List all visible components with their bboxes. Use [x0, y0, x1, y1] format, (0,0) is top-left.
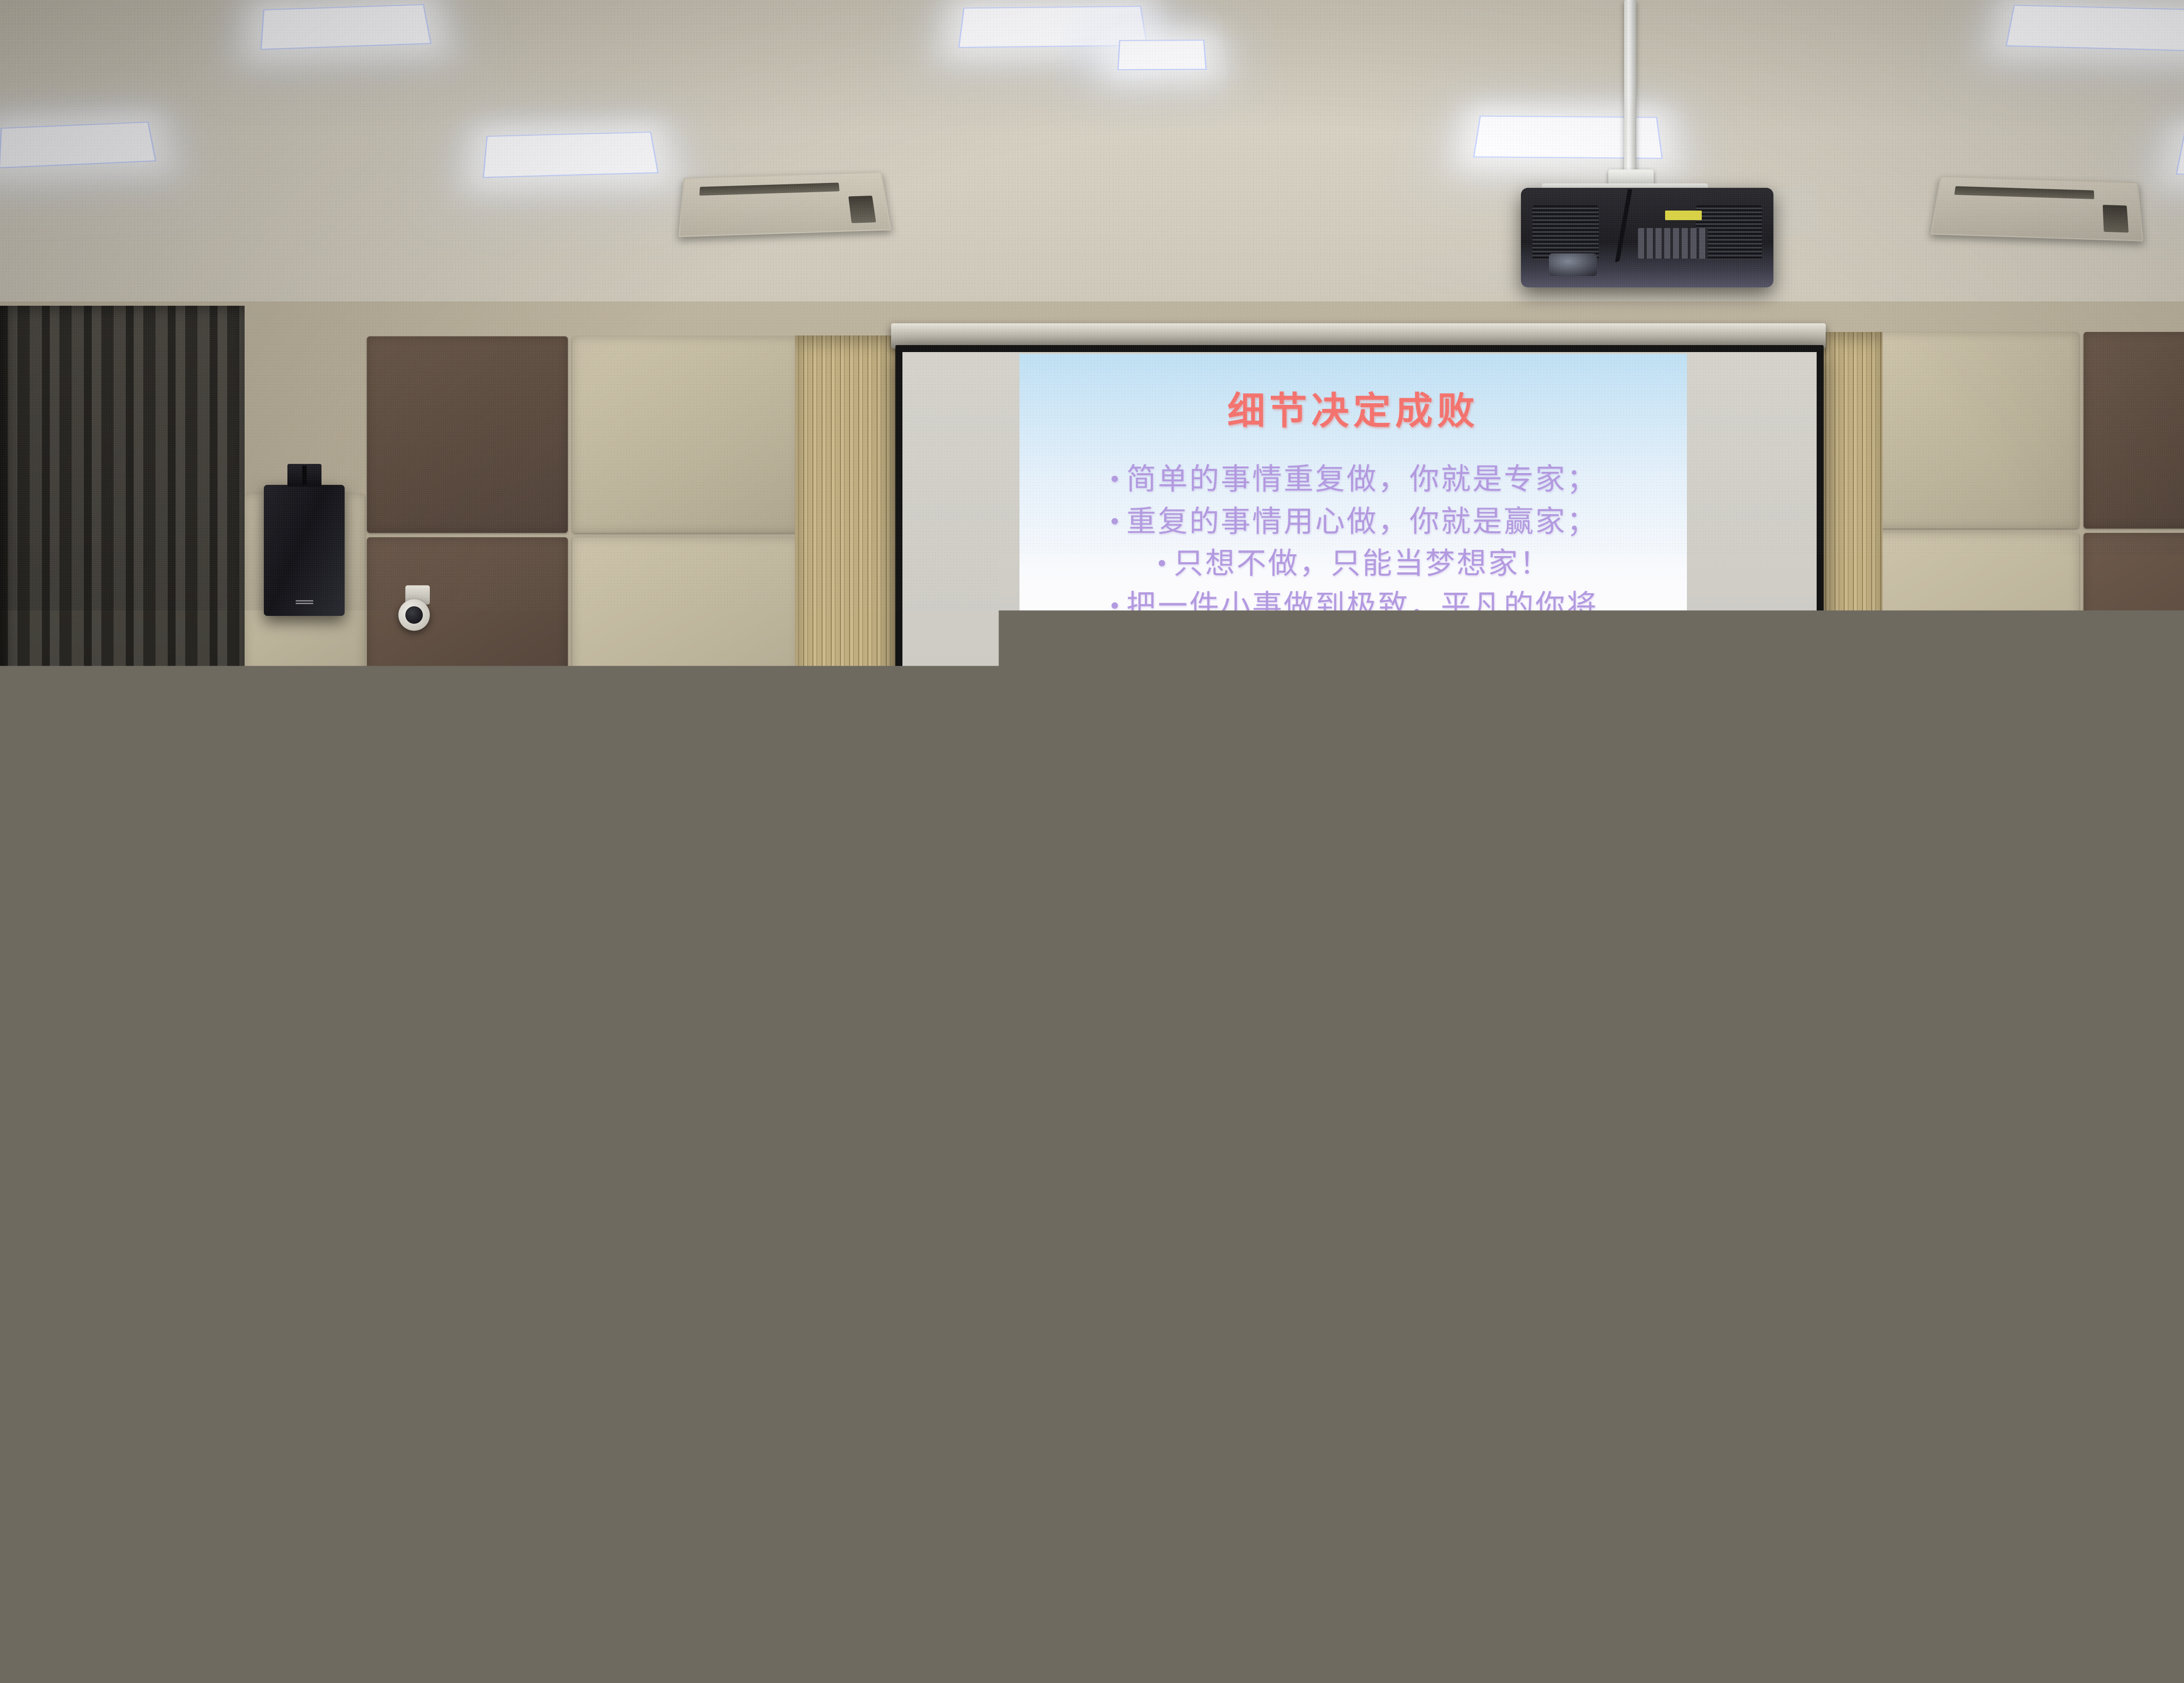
student-head: [603, 957, 649, 1011]
chair-trim: [2056, 1302, 2164, 1310]
chair-fabric-cover: [1782, 1280, 1948, 1389]
chair-bolt: [1779, 1173, 1784, 1178]
slide-bullet-text: 重复的事情用心做，你就是赢家；: [1127, 505, 1598, 539]
student-head: [1572, 1048, 1623, 1109]
projector-vent: [1532, 205, 1599, 259]
student-torso: [2146, 1070, 2184, 1180]
water-bottle-desk[interactable]: [442, 1491, 534, 1527]
student-chair[interactable]: [1127, 1301, 1256, 1365]
chair-trim: [1061, 1059, 1172, 1067]
slide-bullet-item: •重复的事情用心做，你就是赢家；: [1019, 501, 1687, 543]
student-head: [26, 1149, 74, 1206]
bottle-cap: [7, 1367, 25, 1382]
acoustic-wall-panel: [572, 336, 799, 533]
tree-canopy: [1296, 805, 1330, 822]
bottle-label: [2025, 1093, 2043, 1118]
desk-booklet[interactable]: [1354, 1439, 1436, 1471]
chair-trim: [1718, 1131, 1844, 1139]
projector-port-panel: [1638, 228, 1708, 259]
tree-canopy: [1585, 758, 1655, 787]
slide-tree: [1545, 784, 1576, 854]
presenter-eye: [1086, 876, 1095, 880]
recessed-light-panel: [2005, 5, 2184, 52]
desk-booklet[interactable]: [458, 1348, 540, 1379]
tree-canopy: [1651, 807, 1683, 823]
water-bottle-desk[interactable]: [0, 1380, 32, 1472]
chair-fabric-cover: [664, 1293, 830, 1407]
rack-vent: [215, 904, 334, 907]
student-head: [664, 1048, 715, 1109]
chair-fabric-cover: [70, 1254, 227, 1363]
slide-title: 细节决定成败: [1019, 380, 1687, 435]
slide-bullet-item: •简单的事情重复做，你就是专家；: [1019, 459, 1687, 501]
desk-booklet[interactable]: [1921, 1369, 2004, 1401]
chair-trim: [1640, 1062, 1752, 1070]
acoustic-wall-panel: [367, 537, 568, 734]
bottle-cap: [532, 1498, 547, 1517]
slide-bullet-text: 把一件小事做到极致，平凡的你将: [1127, 589, 1598, 623]
acoustic-wall-panel: [245, 690, 365, 882]
speaker-badge: [296, 600, 313, 605]
tree-canopy: [1372, 815, 1400, 834]
bullet-dot-icon: •: [1155, 551, 1170, 577]
student-head: [869, 1136, 926, 1204]
student-head: [323, 1520, 429, 1647]
tree-canopy: [1468, 764, 1532, 791]
acoustic-wall-panel: [1874, 332, 2079, 529]
student-head: [625, 1144, 681, 1213]
ceiling-projector: [1521, 188, 1773, 287]
chair-fabric-cover: [205, 1380, 411, 1511]
presenter-eye: [1109, 876, 1118, 880]
chair-fabric-cover: [1389, 1262, 1555, 1372]
chair-fabric-cover: [245, 1258, 402, 1367]
slide-bullet-item: •把一件小事做到极致，平凡的你将: [1019, 585, 1687, 628]
desk-booklet[interactable]: [1310, 1334, 1392, 1366]
student-head: [978, 1441, 1075, 1557]
chair-fabric-cover: [1581, 1267, 1747, 1376]
student-head: [1345, 1053, 1396, 1113]
recessed-light-panel: [483, 131, 659, 178]
chair-trim: [1814, 1214, 1958, 1222]
desk-booklet[interactable]: [96, 1439, 178, 1471]
student-head: [1310, 1158, 1366, 1224]
chair-bolt: [1044, 1351, 1048, 1356]
student-head: [1931, 1420, 2027, 1535]
student-head: [568, 1061, 617, 1120]
chair-bolt: [2108, 1348, 2112, 1353]
student-head: [708, 943, 755, 1000]
chair-trim: [1126, 1298, 1258, 1306]
student-torso: [347, 1048, 470, 1158]
rack-vent: [215, 965, 334, 968]
bullet-dot-icon: •: [1108, 594, 1123, 619]
student-head: [786, 952, 832, 1007]
loudspeaker-left: [264, 485, 345, 616]
slat-wall-right: [1817, 332, 1883, 978]
acoustic-wall-panel: [2084, 533, 2184, 729]
projector-warning-sticker: [1665, 211, 1702, 220]
slide-bullet-text: 简单的事情重复做，你就是专家；: [1127, 462, 1598, 497]
desk-booklet[interactable]: [2162, 1435, 2184, 1466]
acoustic-wall-panel: [1874, 734, 2079, 922]
bottle-cap: [2029, 1066, 2039, 1075]
bottle-label: [0, 1416, 32, 1462]
recessed-light-panel: [0, 122, 156, 169]
water-bottle-desk[interactable]: [2025, 1073, 2043, 1124]
student-head: [502, 1389, 594, 1499]
door-knob[interactable]: [439, 998, 449, 1009]
chair-bolt: [2015, 1357, 2020, 1362]
acoustic-wall-panel: [572, 537, 799, 734]
acoustic-wall-panel: [572, 738, 799, 922]
tree-canopy: [1103, 824, 1123, 835]
chair-bolt: [1728, 1261, 1732, 1266]
slide-tree: [1299, 788, 1327, 854]
recessed-light-panel: [260, 4, 432, 50]
bullet-dot-icon: •: [1108, 509, 1123, 535]
tree-canopy: [1206, 815, 1233, 829]
presenter-mouth: [1098, 895, 1113, 901]
speaker-bracket: [287, 464, 321, 487]
slide-tree: [1480, 764, 1520, 854]
tree-canopy: [1431, 809, 1462, 824]
tree-canopy: [1211, 828, 1229, 840]
slide-tree: [1653, 790, 1681, 854]
tree-canopy: [1366, 796, 1406, 816]
projected-slide: 细节决定成败 •简单的事情重复做，你就是专家；•重复的事情用心做，你就是赢家；•…: [1019, 354, 1687, 902]
student-head: [961, 1040, 1012, 1100]
slat-wall-left: [795, 335, 900, 986]
student-head: [1590, 1158, 1647, 1226]
ceiling-texture: [0, 0, 2184, 332]
bottle-label: [452, 1493, 499, 1527]
screen-surface: 细节决定成败 •简单的事情重复做，你就是专家；•重复的事情用心做，你就是赢家；•…: [902, 352, 1817, 904]
slide-bullet-item: •只想不做，只能当梦想家！: [1019, 543, 1687, 585]
student-head: [856, 1053, 907, 1113]
student-head: [1455, 1415, 1546, 1525]
slide-bullet-list: •简单的事情重复做，你就是专家；•重复的事情用心做，你就是赢家；•只想不做，只能…: [1019, 459, 1687, 670]
ceiling-air-vent: [1931, 176, 2143, 242]
chair-bolt: [1884, 1261, 1889, 1266]
student-head: [1450, 1061, 1501, 1122]
tree-canopy: [1477, 788, 1523, 811]
tree-canopy: [1436, 823, 1457, 838]
bullet-dot-icon: •: [1108, 467, 1123, 492]
security-camera-left: [398, 599, 430, 631]
presenter-right-hand: [1128, 995, 1152, 1019]
tree-canopy: [1603, 806, 1638, 829]
slide-tree: [1434, 793, 1460, 854]
desk-edge: [2009, 1195, 2184, 1203]
recessed-light-panel: [1117, 40, 1207, 70]
vent-slot: [699, 183, 840, 196]
student-chair[interactable]: [1720, 1134, 1842, 1185]
ceiling: [0, 0, 2184, 332]
student-head: [52, 1066, 98, 1120]
bottle-cap: [712, 933, 726, 944]
acoustic-wall-panel: [367, 336, 568, 533]
hp-logo-icon: [887, 924, 908, 945]
blackout-curtain: [0, 306, 245, 987]
chair-trim: [2029, 1203, 2120, 1211]
chair-bolt: [284, 1158, 289, 1163]
tree-canopy: [1302, 821, 1325, 837]
slide-bullet-text: 变得不平凡！: [1259, 631, 1448, 665]
projection-screen: 细节决定成败 •简单的事情重复做，你就是专家；•重复的事情用心做，你就是赢家；•…: [895, 345, 1824, 911]
acoustic-wall-panel: [1874, 533, 2079, 729]
ceiling-air-vent: [678, 172, 891, 237]
student-head: [756, 1057, 806, 1118]
student-head: [384, 1005, 432, 1062]
chair-bolt: [1190, 1351, 1195, 1356]
student-head: [515, 1153, 571, 1220]
slide-bullet-text: 只想不做，只能当梦想家！: [1174, 546, 1551, 581]
slide-bullet-item: 变得不平凡！: [1019, 627, 1687, 670]
acoustic-wall-panel: [2084, 332, 2184, 529]
chair-bolt: [2073, 1246, 2077, 1251]
backpack[interactable]: [384, 1206, 450, 1262]
student-head: [1280, 961, 1326, 1016]
student-head: [2079, 1013, 2127, 1071]
tree-canopy: [1656, 822, 1678, 837]
chair-trim: [2143, 1203, 2184, 1211]
vent-slot: [1954, 186, 2094, 199]
student-head: [900, 948, 946, 1002]
student-head: [1555, 978, 1603, 1036]
tree-canopy: [1484, 809, 1516, 831]
student-head: [301, 1005, 347, 1059]
student-head: [743, 1153, 799, 1221]
student-desk: [2035, 1267, 2184, 1304]
projector-mount-pole: [1624, 0, 1636, 175]
desk-booklet[interactable]: [1070, 1435, 1152, 1466]
desk-booklet[interactable]: [567, 1448, 650, 1479]
slide-tree: [1208, 802, 1231, 854]
projector-cable: [1615, 189, 1633, 263]
tree-canopy: [1542, 802, 1578, 821]
lecture-hall-photo: 细节决定成败 •简单的事情重复做，你就是专家；•重复的事情用心做，你就是赢家；•…: [0, 0, 2184, 1683]
student-head: [1005, 1149, 1061, 1217]
projector-lens: [1549, 253, 1597, 276]
rack-vent: [215, 935, 334, 938]
desk-booklet[interactable]: [1773, 1452, 1855, 1484]
student-head: [1441, 1149, 1498, 1217]
student-head: [188, 1061, 236, 1119]
tree-canopy: [1595, 783, 1645, 808]
chair-fabric-cover: [472, 1289, 638, 1402]
student-head: [974, 970, 1020, 1024]
sanitizer-pump: [631, 916, 643, 936]
tree-canopy: [1548, 819, 1572, 836]
chair-fabric-cover: [646, 1415, 860, 1555]
student-chair[interactable]: [1816, 1217, 1956, 1274]
chair-bolt: [146, 1220, 151, 1224]
student-head: [1249, 1061, 1299, 1121]
vent-slot: [2102, 205, 2129, 232]
slide-tree: [1369, 776, 1404, 854]
student-chair[interactable]: [2057, 1304, 2162, 1361]
student-head: [1455, 965, 1500, 1020]
student-chair[interactable]: [2145, 1206, 2184, 1258]
slide-tree: [1598, 758, 1642, 854]
presenter-hair: [1069, 836, 1137, 876]
vent-slot: [848, 196, 876, 223]
chair-bolt: [898, 1351, 902, 1356]
student-chair[interactable]: [2031, 1206, 2118, 1258]
student-head: [1367, 957, 1413, 1011]
